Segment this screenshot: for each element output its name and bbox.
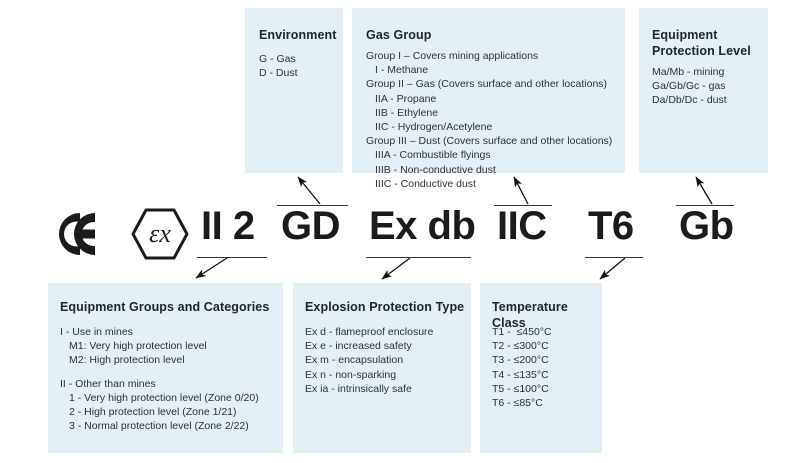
text-line: T2 - ≤300°C bbox=[492, 339, 596, 353]
svg-text:ɛx: ɛx bbox=[149, 219, 171, 248]
rule-under-explosion-type bbox=[366, 257, 471, 258]
rule-over-gas-group bbox=[494, 205, 552, 206]
box-explosion-type-body: Ex d - flameproof enclosureEx e - increa… bbox=[305, 325, 465, 396]
text-line: IIIC - Conductive dust bbox=[366, 177, 619, 191]
box-gas-group: Gas Group Group I – Covers mining applic… bbox=[352, 8, 625, 173]
text-line: M2: High protection level bbox=[60, 353, 277, 367]
text-line: Ga/Gb/Gc - gas bbox=[652, 79, 762, 93]
box-temperature-class: Temperature Class T1 - ≤450°CT2 - ≤300°C… bbox=[480, 283, 602, 453]
box-gas-group-title: Gas Group bbox=[366, 27, 432, 43]
mark-equipment-group-category: II 2 bbox=[201, 204, 255, 248]
mark-environment: GD bbox=[281, 204, 340, 248]
text-line: T3 - ≤200°C bbox=[492, 353, 596, 367]
text-line: IIC - Hydrogen/Acetylene bbox=[366, 120, 619, 134]
text-line: 1 - Very high protection level (Zone 0/2… bbox=[60, 391, 277, 405]
box-environment-title: Environment bbox=[259, 27, 337, 43]
diagram-canvas: Environment G - GasD - Dust Gas Group Gr… bbox=[0, 0, 800, 463]
box-environment: Environment G - GasD - Dust bbox=[245, 8, 343, 173]
mark-equipment-protection-level: Gb bbox=[679, 204, 734, 248]
text-line: D - Dust bbox=[259, 66, 337, 80]
text-line: Ex d - flameproof enclosure bbox=[305, 325, 465, 339]
mark-explosion-protection-type: Ex db bbox=[369, 204, 475, 248]
rule-over-environment bbox=[277, 205, 348, 206]
rule-over-epl bbox=[676, 205, 734, 206]
box-gas-group-body: Group I – Covers mining applicationsI - … bbox=[366, 49, 619, 191]
rule-under-temperature-class bbox=[585, 257, 643, 258]
arrow-explosion-type-to-box bbox=[382, 258, 410, 279]
box-environment-body: G - GasD - Dust bbox=[259, 52, 337, 80]
rule-under-equipment-group bbox=[197, 257, 267, 258]
arrow-environment-to-box bbox=[298, 177, 320, 204]
text-line: Group I – Covers mining applications bbox=[366, 49, 619, 63]
mark-temperature-class: T6 bbox=[588, 204, 634, 248]
text-line: Ex e - increased safety bbox=[305, 339, 465, 353]
atex-ex-hexagon-icon: ɛx bbox=[130, 206, 190, 262]
box-epl-body: Ma/Mb - miningGa/Gb/Gc - gasDa/Db/Dc - d… bbox=[652, 65, 762, 108]
text-line bbox=[60, 368, 277, 377]
box-epl-title: Equipment Protection Level bbox=[652, 27, 756, 59]
text-line: M1: Very high protection level bbox=[60, 339, 277, 353]
ce-mark-icon bbox=[46, 208, 119, 260]
box-equipment-groups: Equipment Groups and Categories I - Use … bbox=[48, 283, 283, 453]
box-temperature-class-body: T1 - ≤450°CT2 - ≤300°CT3 - ≤200°CT4 - ≤1… bbox=[492, 325, 596, 410]
text-line: IIIA - Combustible flyings bbox=[366, 148, 619, 162]
text-line: Ma/Mb - mining bbox=[652, 65, 762, 79]
arrow-temperature-class-to-box bbox=[600, 258, 625, 279]
text-line: IIIB - Non-conductive dust bbox=[366, 163, 619, 177]
box-equipment-groups-body: I - Use in minesM1: Very high protection… bbox=[60, 325, 277, 433]
arrow-epl-to-box bbox=[696, 177, 712, 204]
arrow-equipment-group-to-box bbox=[196, 258, 227, 278]
text-line: 3 - Normal protection level (Zone 2/22) bbox=[60, 419, 277, 433]
box-equipment-groups-title: Equipment Groups and Categories bbox=[60, 299, 269, 315]
box-explosion-protection-type: Explosion Protection Type Ex d - flamepr… bbox=[293, 283, 471, 453]
box-equipment-protection-level: Equipment Protection Level Ma/Mb - minin… bbox=[639, 8, 768, 173]
text-line: IIB - Ethylene bbox=[366, 106, 619, 120]
text-line: I - Use in mines bbox=[60, 325, 277, 339]
text-line: Group II – Gas (Covers surface and other… bbox=[366, 77, 619, 91]
mark-gas-group: IIC bbox=[497, 204, 547, 248]
text-line: T1 - ≤450°C bbox=[492, 325, 596, 339]
text-line: T6 - ≤85°C bbox=[492, 396, 596, 410]
text-line: Ex ia - intrinsically safe bbox=[305, 382, 465, 396]
text-line: Ex m - encapsulation bbox=[305, 353, 465, 367]
text-line: Group III – Dust (Covers surface and oth… bbox=[366, 134, 619, 148]
text-line: 2 - High protection level (Zone 1/21) bbox=[60, 405, 277, 419]
text-line: II - Other than mines bbox=[60, 377, 277, 391]
text-line: Da/Db/Dc - dust bbox=[652, 93, 762, 107]
text-line: G - Gas bbox=[259, 52, 337, 66]
box-explosion-type-title: Explosion Protection Type bbox=[305, 299, 464, 315]
text-line: Ex n - non-sparking bbox=[305, 368, 465, 382]
text-line: IIA - Propane bbox=[366, 92, 619, 106]
text-line: T4 - ≤135°C bbox=[492, 368, 596, 382]
text-line: I - Methane bbox=[366, 63, 619, 77]
text-line: T5 - ≤100°C bbox=[492, 382, 596, 396]
